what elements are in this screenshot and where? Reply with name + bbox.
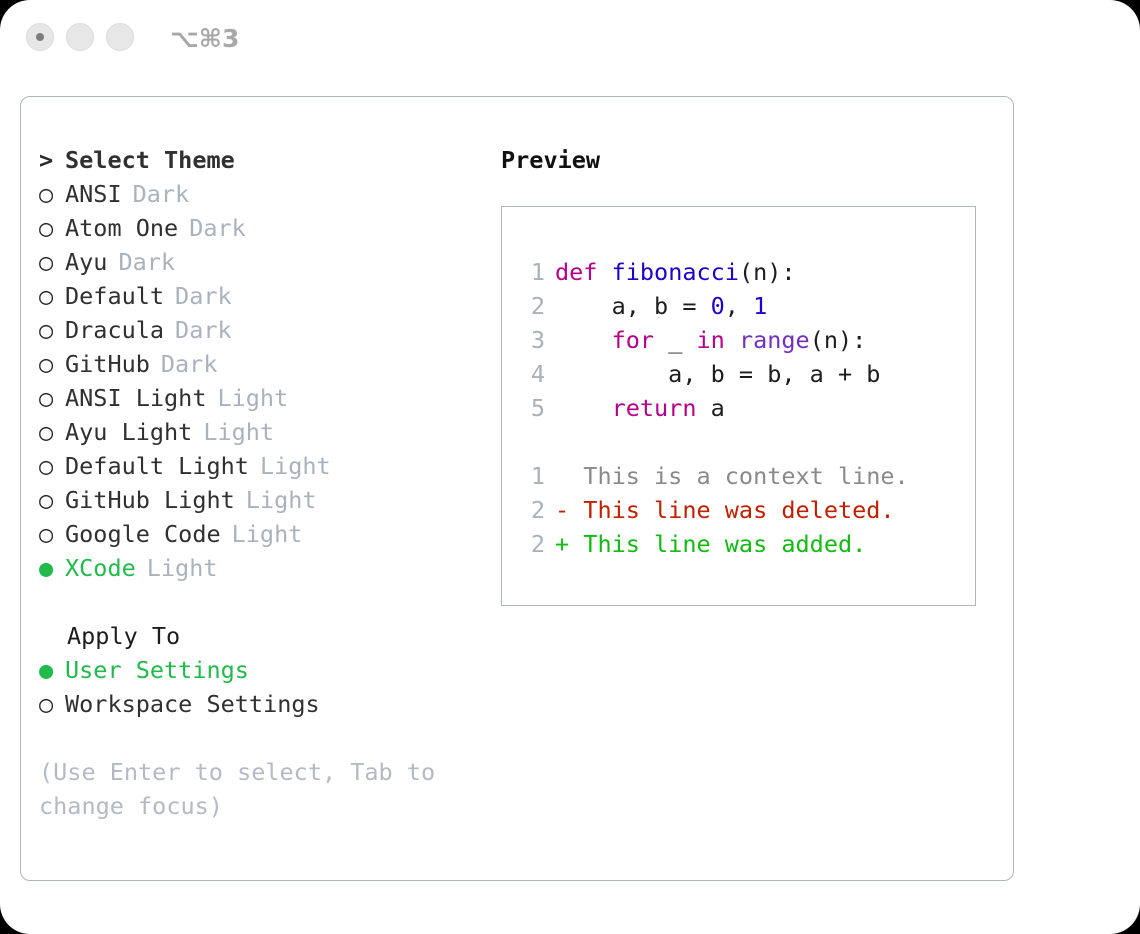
theme-variant-badge: Light — [203, 418, 274, 446]
theme-variant-badge: Light — [147, 554, 218, 582]
theme-variant-badge: Dark — [118, 248, 175, 276]
radio-unselected-icon: ○ — [39, 381, 65, 415]
radio-unselected-icon: ○ — [39, 279, 65, 313]
diff-line-text: - This line was deleted. — [555, 496, 895, 524]
diff-line-ctx: 1 This is a context line. — [521, 459, 975, 493]
apply-to-option-user-settings[interactable]: ●User Settings — [39, 653, 479, 687]
theme-option-label: ANSI Light — [65, 384, 206, 412]
theme-variant-badge: Dark — [161, 350, 218, 378]
theme-option-atom-one[interactable]: ○Atom OneDark — [39, 211, 479, 245]
titlebar: ⌥⌘3 — [0, 0, 1140, 78]
code-token — [725, 326, 739, 354]
theme-option-default-light[interactable]: ○Default LightLight — [39, 449, 479, 483]
theme-option-ansi[interactable]: ○ANSIDark — [39, 177, 479, 211]
code-diff-separator — [521, 425, 975, 459]
theme-variant-badge: Dark — [133, 180, 190, 208]
preview-heading: Preview — [501, 143, 1001, 177]
radio-unselected-icon: ○ — [39, 687, 65, 721]
preview-box: 1def fibonacci(n):2 a, b = 0, 13 for _ i… — [501, 206, 976, 606]
diff-sample: 1 This is a context line.2- This line wa… — [521, 459, 975, 561]
line-number: 3 — [521, 323, 545, 357]
code-token: , — [725, 292, 753, 320]
theme-option-dracula[interactable]: ○DraculaDark — [39, 313, 479, 347]
code-token: def — [555, 258, 597, 286]
preview-column: Preview 1def fibonacci(n):2 a, b = 0, 13… — [501, 143, 1001, 606]
radio-unselected-icon: ○ — [39, 483, 65, 517]
theme-option-label: XCode — [65, 554, 136, 582]
apply-to-option-label: User Settings — [65, 656, 249, 684]
theme-variant-badge: Light — [232, 520, 303, 548]
code-token: return — [612, 394, 697, 422]
code-token: (n): — [739, 258, 796, 286]
code-token: a, b = — [555, 292, 711, 320]
radio-selected-icon: ● — [39, 551, 65, 585]
theme-option-xcode[interactable]: ●XCodeLight — [39, 551, 479, 585]
radio-unselected-icon: ○ — [39, 245, 65, 279]
theme-option-ayu[interactable]: ○AyuDark — [39, 245, 479, 279]
theme-option-ansi-light[interactable]: ○ANSI LightLight — [39, 381, 479, 415]
line-number: 2 — [521, 493, 545, 527]
line-number: 1 — [521, 459, 545, 493]
theme-variant-badge: Dark — [175, 316, 232, 344]
keyboard-hint-text: (Use Enter to select, Tab to change focu… — [39, 755, 447, 823]
diff-line-text: This is a context line. — [555, 462, 909, 490]
theme-option-label: Ayu — [65, 248, 107, 276]
code-token: 0 — [711, 292, 725, 320]
line-number: 1 — [521, 255, 545, 289]
radio-unselected-icon: ○ — [39, 211, 65, 245]
code-token: 1 — [753, 292, 767, 320]
code-token — [555, 394, 612, 422]
code-line: 5 return a — [521, 391, 975, 425]
theme-options-list[interactable]: ○ANSIDark○Atom OneDark○AyuDark○DefaultDa… — [39, 177, 479, 585]
code-line: 1def fibonacci(n): — [521, 255, 975, 289]
theme-option-label: Default — [65, 282, 164, 310]
traffic-light-active-icon[interactable] — [26, 23, 54, 51]
code-line: 4 a, b = b, a + b — [521, 357, 975, 391]
radio-unselected-icon: ○ — [39, 449, 65, 483]
theme-variant-badge: Dark — [175, 282, 232, 310]
theme-option-label: ANSI — [65, 180, 122, 208]
code-token: (n): — [810, 326, 867, 354]
apply-to-option-label: Workspace Settings — [65, 690, 320, 718]
theme-selector-panel: >Select Theme ○ANSIDark○Atom OneDark○Ayu… — [20, 96, 1014, 881]
line-number: 5 — [521, 391, 545, 425]
keyboard-shortcut-label: ⌥⌘3 — [170, 24, 239, 53]
theme-option-label: Ayu Light — [65, 418, 192, 446]
traffic-light-inactive-icon-2[interactable] — [106, 23, 134, 51]
radio-unselected-icon: ○ — [39, 415, 65, 449]
theme-list-column: >Select Theme ○ANSIDark○Atom OneDark○Ayu… — [39, 143, 479, 823]
list-spacer — [39, 585, 479, 619]
code-token — [597, 258, 611, 286]
code-line: 3 for _ in range(n): — [521, 323, 975, 357]
radio-unselected-icon: ○ — [39, 177, 65, 211]
app-window: ⌥⌘3 >Select Theme ○ANSIDark○Atom OneDark… — [0, 0, 1140, 934]
theme-option-label: Google Code — [65, 520, 221, 548]
apply-to-options-list[interactable]: ●User Settings○Workspace Settings — [39, 653, 479, 721]
theme-option-label: Dracula — [65, 316, 164, 344]
code-token: _ — [654, 326, 696, 354]
line-number: 2 — [521, 527, 545, 561]
diff-line-text: + This line was added. — [555, 530, 866, 558]
theme-option-default[interactable]: ○DefaultDark — [39, 279, 479, 313]
theme-variant-badge: Light — [246, 486, 317, 514]
theme-variant-badge: Light — [217, 384, 288, 412]
code-token: a — [696, 394, 724, 422]
theme-option-github-light[interactable]: ○GitHub LightLight — [39, 483, 479, 517]
theme-option-google-code[interactable]: ○Google CodeLight — [39, 517, 479, 551]
radio-unselected-icon: ○ — [39, 313, 65, 347]
radio-unselected-icon: ○ — [39, 347, 65, 381]
code-sample: 1def fibonacci(n):2 a, b = 0, 13 for _ i… — [521, 255, 975, 425]
theme-option-label: GitHub Light — [65, 486, 235, 514]
diff-line-del: 2- This line was deleted. — [521, 493, 975, 527]
code-token: range — [739, 326, 810, 354]
apply-to-heading: Apply To — [39, 619, 479, 653]
apply-to-option-workspace-settings[interactable]: ○Workspace Settings — [39, 687, 479, 721]
code-token: fibonacci — [612, 258, 739, 286]
theme-option-ayu-light[interactable]: ○Ayu LightLight — [39, 415, 479, 449]
theme-option-label: GitHub — [65, 350, 150, 378]
code-line: 2 a, b = 0, 1 — [521, 289, 975, 323]
prompt-caret-icon: > — [39, 143, 65, 177]
select-theme-heading: >Select Theme — [39, 143, 479, 177]
code-token: a, b = b, a + b — [555, 360, 880, 388]
diff-line-add: 2+ This line was added. — [521, 527, 975, 561]
line-number: 2 — [521, 289, 545, 323]
code-token: in — [697, 326, 725, 354]
theme-option-label: Atom One — [65, 214, 178, 242]
line-number: 4 — [521, 357, 545, 391]
theme-variant-badge: Light — [260, 452, 331, 480]
code-token: for — [612, 326, 654, 354]
radio-unselected-icon: ○ — [39, 517, 65, 551]
code-token — [555, 326, 612, 354]
theme-option-github[interactable]: ○GitHubDark — [39, 347, 479, 381]
traffic-light-inactive-icon-1[interactable] — [66, 23, 94, 51]
radio-selected-icon: ● — [39, 653, 65, 687]
theme-variant-badge: Dark — [189, 214, 246, 242]
theme-option-label: Default Light — [65, 452, 249, 480]
